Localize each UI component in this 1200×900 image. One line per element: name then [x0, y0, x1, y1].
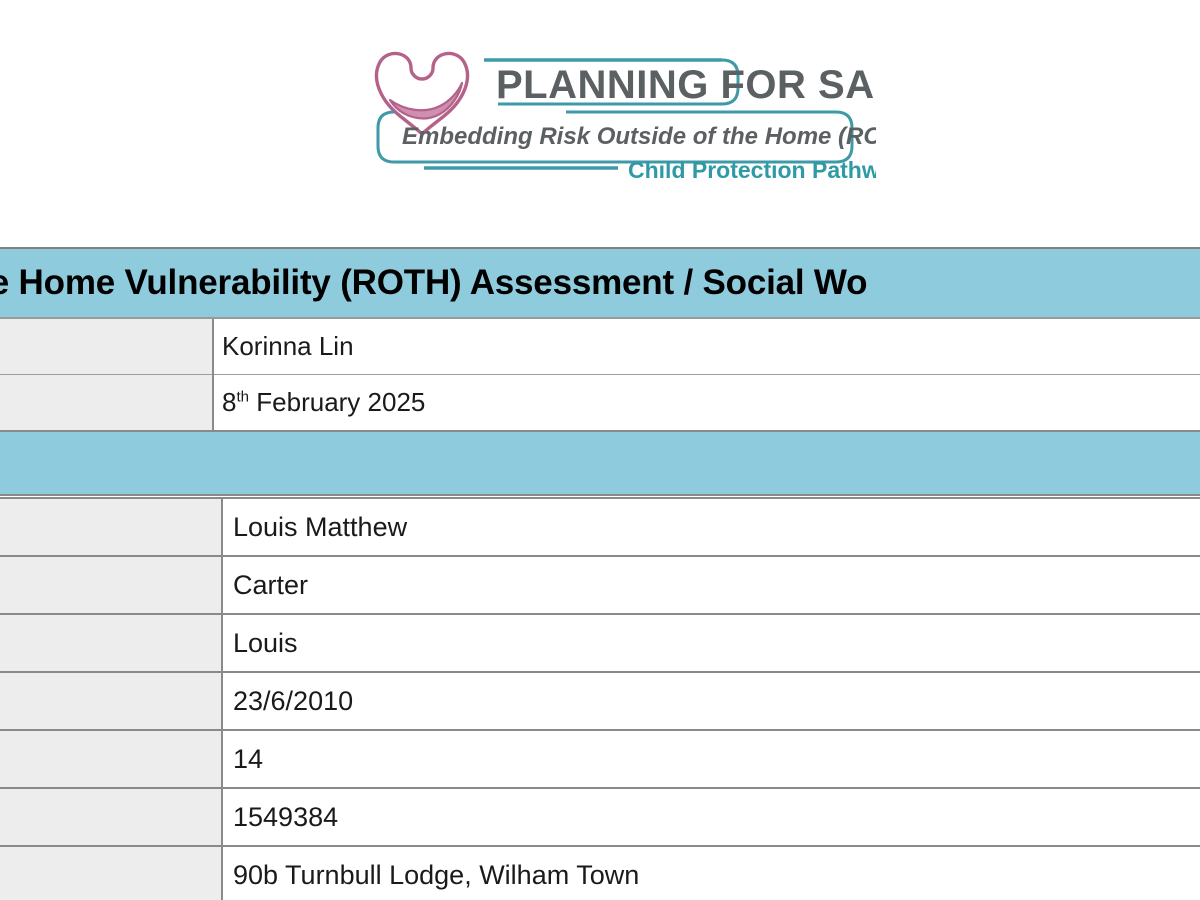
child-value-cell-6[interactable]: 90b Turnbull Lodge, Wilham Town: [222, 846, 1200, 900]
child-value-cell-5[interactable]: 1549384: [222, 788, 1200, 846]
page-root: PLANNING FOR SAFETY Embedding Risk Outsi…: [0, 0, 1200, 900]
heart-with-cradled-hand-icon: [377, 53, 468, 134]
child-label-cell-1: [0, 556, 222, 614]
child-label-cell-4: [0, 730, 222, 788]
logo-svg: PLANNING FOR SAFETY Embedding Risk Outsi…: [366, 38, 876, 183]
child-value-cell-3[interactable]: 23/6/2010: [222, 672, 1200, 730]
child-surname-value: Carter: [223, 570, 1200, 601]
child-forenames-value: Louis Matthew: [223, 512, 1200, 543]
date-day: 8: [222, 387, 236, 417]
table-row: Louis: [0, 614, 1200, 672]
date-month-year: February 2025: [249, 387, 425, 417]
planning-for-safety-logo: PLANNING FOR SAFETY Embedding Risk Outsi…: [366, 38, 876, 183]
table-row: 1549384: [0, 788, 1200, 846]
logo-header: PLANNING FOR SAFETY Embedding Risk Outsi…: [0, 0, 1200, 240]
child-label-cell-2: [0, 614, 222, 672]
table-row: Louis Matthew: [0, 498, 1200, 556]
logo-subtitle: Embedding Risk Outside of the Home (ROTH…: [402, 123, 876, 150]
logo-title: PLANNING FOR SAFETY: [496, 63, 876, 107]
child-dob-value: 23/6/2010: [223, 686, 1200, 717]
section-header-cell: rmation: [0, 431, 1200, 495]
child-address-value: 90b Turnbull Lodge, Wilham Town: [223, 860, 1200, 891]
meta-value-cell-1[interactable]: 8th February 2025: [213, 375, 1200, 432]
assessor-name-value: Korinna Lin: [214, 331, 1200, 362]
child-value-cell-2[interactable]: Louis: [222, 614, 1200, 672]
logo-tagline: Child Protection Pathways: [628, 157, 876, 183]
section-heading: rmation: [0, 432, 1200, 494]
meta-label-cell-1: [0, 375, 213, 432]
table-row: Korinna Lin: [0, 318, 1200, 375]
child-label-cell-0: [0, 498, 222, 556]
child-information-table: Louis Matthew Carter Louis 23/6/: [0, 497, 1200, 900]
child-label-cell-5: [0, 788, 222, 846]
child-age-value: 14: [223, 744, 1200, 775]
table-row: 23/6/2010: [0, 672, 1200, 730]
table-title-row: t of the Home Vulnerability (ROTH) Asses…: [0, 248, 1200, 318]
assessment-date-value: 8th February 2025: [214, 387, 1200, 418]
child-label-cell-6: [0, 846, 222, 900]
child-value-cell-0[interactable]: Louis Matthew: [222, 498, 1200, 556]
meta-value-cell-0[interactable]: Korinna Lin: [213, 318, 1200, 375]
document-title-cell: t of the Home Vulnerability (ROTH) Asses…: [0, 248, 1200, 318]
child-known-as-value: Louis: [223, 628, 1200, 659]
child-label-cell-3: [0, 672, 222, 730]
section-header-row: rmation: [0, 431, 1200, 495]
table-row: 90b Turnbull Lodge, Wilham Town: [0, 846, 1200, 900]
assessment-table: t of the Home Vulnerability (ROTH) Asses…: [0, 247, 1200, 496]
page-title: t of the Home Vulnerability (ROTH) Asses…: [0, 249, 1200, 317]
child-value-cell-1[interactable]: Carter: [222, 556, 1200, 614]
child-reference-number-value: 1549384: [223, 802, 1200, 833]
meta-label-cell-0: [0, 318, 213, 375]
date-ordinal-suffix: th: [236, 388, 249, 405]
table-row: 14: [0, 730, 1200, 788]
child-value-cell-4[interactable]: 14: [222, 730, 1200, 788]
table-row: Carter: [0, 556, 1200, 614]
table-row: 8th February 2025: [0, 375, 1200, 432]
